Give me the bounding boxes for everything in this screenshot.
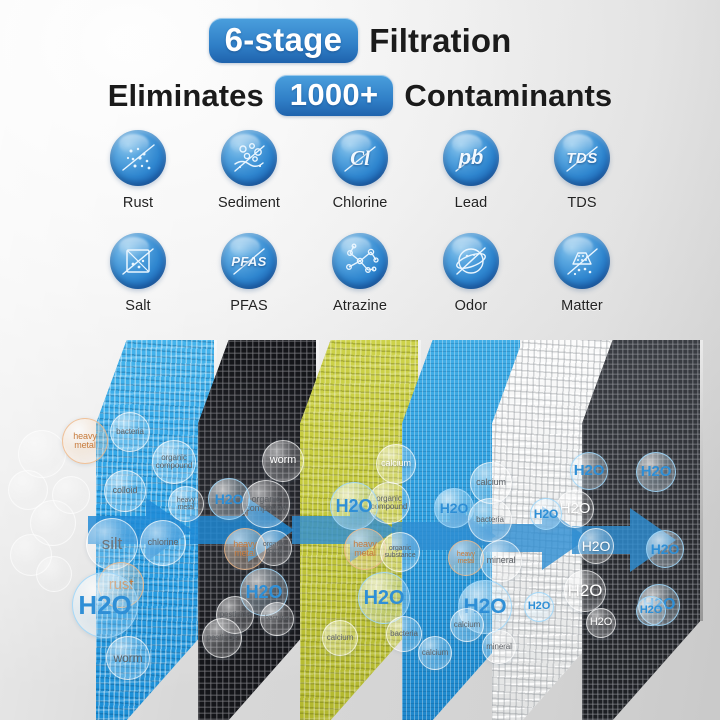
headline-eliminates-word: Eliminates	[108, 80, 264, 111]
contaminant-bubble: H2O	[72, 572, 138, 638]
contaminant-bubble: H2O	[524, 592, 554, 622]
contaminant-item-tds[interactable]: TDS TDS	[532, 130, 632, 211]
contaminant-bubble: bacteria	[386, 616, 422, 652]
contaminant-item-atrazine[interactable]: Atrazine	[310, 233, 410, 314]
particulate-matter-icon	[554, 233, 610, 289]
tds-symbol-icon: TDS	[554, 130, 610, 186]
contaminant-item-sediment[interactable]: Sediment	[199, 130, 299, 211]
lead-glyph-label: pb	[443, 130, 499, 186]
pfas-glyph-label: PFAS	[221, 233, 277, 289]
contaminant-bubble: calcium	[450, 608, 484, 642]
headline-contaminants-word: Contaminants	[404, 80, 612, 111]
contaminant-bubble: worm	[262, 440, 304, 482]
contaminant-item-chlorine[interactable]: Cl Chlorine	[310, 130, 410, 211]
contaminant-bubble: H2O	[530, 498, 562, 530]
headline-filtration-word: Filtration	[369, 24, 511, 57]
contaminant-bubble: H2O	[646, 530, 684, 568]
contaminant-item-rust[interactable]: Rust	[88, 130, 188, 211]
contaminant-bubble: H2O	[578, 528, 614, 564]
sediment-particles-icon	[221, 130, 277, 186]
headline-line-2: Eliminates 1000+ Contaminants	[0, 75, 720, 116]
contaminant-bubble: organicsubstance	[380, 532, 420, 572]
contaminant-item-salt[interactable]: Salt	[88, 233, 188, 314]
chlorine-symbol-icon: Cl	[332, 130, 388, 186]
inlet-bubble	[52, 476, 90, 514]
contaminant-label: TDS	[567, 195, 596, 211]
contaminant-label: PFAS	[230, 298, 267, 314]
contaminant-bubble: heavymetal	[168, 486, 204, 522]
contaminant-label: Odor	[455, 298, 488, 314]
contaminant-bubble: bacteria	[468, 498, 512, 542]
contaminant-icon-row-2: Salt PFAS PFAS	[88, 233, 632, 314]
contaminant-icon-grid: Rust Sediment Cl Chlo	[88, 130, 632, 314]
contaminant-bubble: mineral	[482, 630, 516, 664]
contaminant-label: Matter	[561, 298, 603, 314]
contaminant-bubble: chlorine	[140, 520, 186, 566]
contaminant-bubble: worm	[106, 636, 150, 680]
atrazine-molecule-icon	[332, 233, 388, 289]
contaminant-item-matter[interactable]: Matter	[532, 233, 632, 314]
contaminant-bubble: H2O	[586, 608, 616, 638]
salt-crystal-icon	[110, 233, 166, 289]
contaminant-bubble: calcium	[376, 444, 416, 484]
tds-glyph-label: TDS	[554, 130, 610, 186]
headline-block: 6-stage Filtration Eliminates 1000+ Cont…	[0, 18, 720, 116]
contaminant-label: Rust	[123, 195, 153, 211]
contaminant-bubble: heavymetal	[448, 540, 484, 576]
contaminant-label: Lead	[455, 195, 488, 211]
contaminant-bubble: organiccompound	[152, 440, 196, 484]
odor-sphere-icon	[443, 233, 499, 289]
contaminant-bubble: bacteria	[110, 412, 150, 452]
lead-symbol-icon: pb	[443, 130, 499, 186]
contaminant-icon-row-1: Rust Sediment Cl Chlo	[88, 130, 632, 211]
contaminant-bubble: mineral	[480, 540, 522, 582]
contaminant-label: Sediment	[218, 195, 280, 211]
contaminant-bubble: bacteria	[260, 602, 294, 636]
contaminant-bubble: H2O	[636, 596, 666, 626]
stage-count-badge: 6-stage	[209, 18, 359, 63]
contaminant-bubble: H2O	[570, 452, 608, 490]
contaminant-bubble: H2O	[636, 452, 676, 492]
contaminant-bubble: calcium	[418, 636, 452, 670]
contaminant-bubble: pesticide	[202, 618, 242, 658]
contaminant-label: Salt	[125, 298, 150, 314]
contaminant-item-lead[interactable]: pb Lead	[421, 130, 521, 211]
contaminant-bubble: calcium	[322, 620, 358, 656]
contaminant-bubble: heavymetal	[62, 418, 108, 464]
infographic-canvas: 6-stage Filtration Eliminates 1000+ Cont…	[0, 0, 720, 720]
contaminant-bubble: colloid	[104, 470, 146, 512]
pfas-symbol-icon: PFAS	[221, 233, 277, 289]
contaminant-label: Atrazine	[333, 298, 387, 314]
inlet-bubble	[36, 556, 72, 592]
contaminant-bubble: organiccomp	[256, 530, 292, 566]
contaminant-bubble: silt	[86, 518, 138, 570]
contaminant-bubble: H2O	[330, 482, 378, 530]
contaminant-bubble: H2O	[434, 488, 474, 528]
contaminant-label: Chlorine	[333, 195, 388, 211]
contaminant-count-badge: 1000+	[275, 75, 394, 116]
contaminant-item-pfas[interactable]: PFAS PFAS	[199, 233, 299, 314]
chlorine-glyph-label: Cl	[332, 130, 388, 186]
contaminant-item-odor[interactable]: Odor	[421, 233, 521, 314]
rust-particles-icon	[110, 130, 166, 186]
headline-line-1: 6-stage Filtration	[0, 18, 720, 63]
contaminant-bubble: H2O	[208, 478, 250, 520]
contaminant-bubble: H2O	[564, 570, 606, 612]
contaminant-bubble: H2O	[556, 490, 594, 528]
